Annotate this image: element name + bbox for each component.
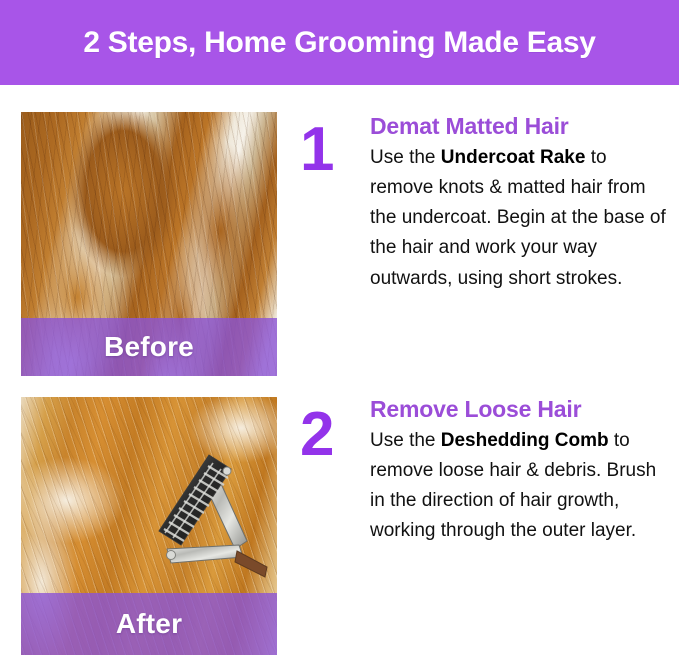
before-caption-label: Before: [104, 331, 194, 363]
step-1-heading: Demat Matted Hair: [370, 113, 670, 139]
step-1-section: Before 1 Demat Matted Hair Use the Under…: [0, 105, 679, 390]
step-2-body-prefix: Use the: [370, 430, 441, 451]
step-2-heading: Remove Loose Hair: [370, 396, 670, 422]
header-banner: 2 Steps, Home Grooming Made Easy: [0, 0, 679, 85]
step-2-numeral: 2: [300, 404, 334, 466]
step-2-body: Use the Deshedding Comb to remove loose …: [370, 426, 670, 546]
step-1-body: Use the Undercoat Rake to remove knots &…: [370, 143, 670, 293]
after-caption-band: After: [21, 593, 277, 655]
after-caption-label: After: [116, 608, 182, 640]
step-1-text-column: Demat Matted Hair Use the Undercoat Rake…: [370, 113, 670, 294]
page-title: 2 Steps, Home Grooming Made Easy: [83, 26, 595, 60]
step-1-product-name: Undercoat Rake: [441, 147, 586, 168]
step-1-photo: Before: [21, 112, 277, 376]
step-2-product-name: Deshedding Comb: [441, 430, 609, 451]
before-caption-band: Before: [21, 318, 277, 376]
step-1-numeral: 1: [300, 119, 334, 181]
step-2-photo: After: [21, 397, 277, 655]
step-2-section: After 2 Remove Loose Hair Use the Deshed…: [0, 390, 679, 655]
step-1-body-prefix: Use the: [370, 147, 441, 168]
step-1-body-suffix: to remove knots & matted hair from the u…: [370, 147, 666, 288]
step-2-text-column: Remove Loose Hair Use the Deshedding Com…: [370, 396, 670, 547]
